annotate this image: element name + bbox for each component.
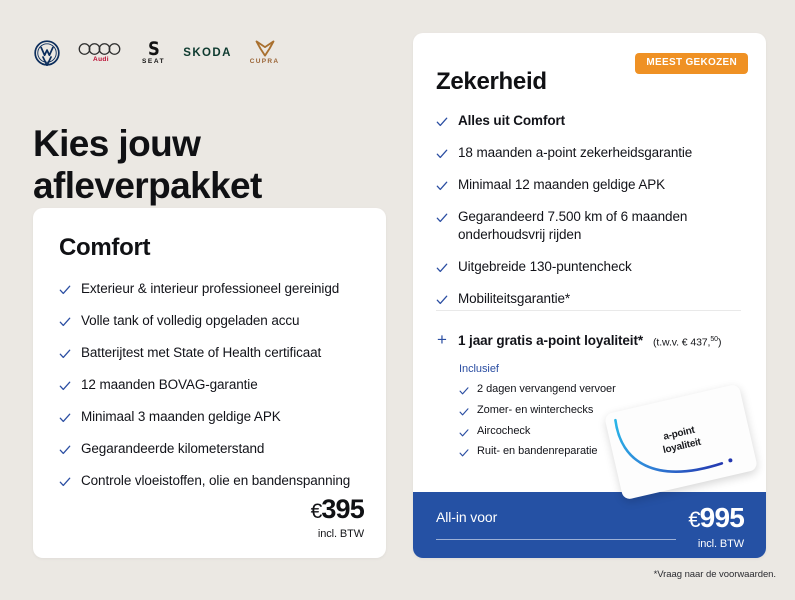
list-item: Aircocheck (459, 425, 709, 439)
list-item: Controle vloeistoffen, olie en bandenspa… (59, 472, 354, 490)
feature-text: 18 maanden a-point zekerheidsgarantie (458, 144, 692, 162)
currency-symbol: € (311, 500, 322, 523)
loyalty-addon-row: + 1 jaar gratis a-point loyaliteit* (t.w… (436, 331, 751, 348)
feature-text: Mobiliteitsgarantie* (458, 290, 570, 308)
skoda-wordmark: SKODA (183, 47, 232, 59)
loyalty-addon-label: 1 jaar gratis a-point loyaliteit* (458, 333, 643, 348)
cupra-logo-icon: CUPRA (250, 40, 280, 66)
plus-icon: + (436, 331, 448, 348)
list-item: Gegarandeerde kilometerstand (59, 440, 354, 458)
price-value: 395 (321, 494, 364, 524)
inclusief-item-text: 2 dagen vervangend vervoer (477, 383, 616, 397)
seat-wordmark: SEAT (142, 59, 165, 66)
list-item: 2 dagen vervangend vervoer (459, 383, 709, 397)
allin-price: €995 incl. BTW (688, 504, 744, 550)
promo-page: Audi S SEAT SKODA CUPRA Kies jouw afleve… (0, 0, 795, 600)
check-icon (436, 180, 448, 192)
check-icon (59, 476, 71, 488)
value-prefix: (t.w.v. € 437, (653, 336, 710, 348)
list-item: Zomer- en winterchecks (459, 404, 709, 418)
feature-text: Controle vloeistoffen, olie en bandenspa… (81, 472, 350, 490)
feature-text: Batterijtest met State of Health certifi… (81, 344, 321, 362)
feature-text: Volle tank of volledig opgeladen accu (81, 312, 299, 330)
zekerheid-title: Zekerheid (436, 68, 547, 96)
seat-mark: S (148, 40, 160, 58)
list-item: Uitgebreide 130-puntencheck (436, 258, 741, 276)
list-item: Gegarandeerd 7.500 km of 6 maanden onder… (436, 208, 741, 244)
list-item: Volle tank of volledig opgeladen accu (59, 312, 354, 330)
comfort-title: Comfort (59, 234, 150, 262)
divider (436, 310, 741, 311)
list-item: Batterijtest met State of Health certifi… (59, 344, 354, 362)
feature-text: 12 maanden BOVAG-garantie (81, 376, 258, 394)
check-icon (59, 444, 71, 456)
status-badge: MEEST GEKOZEN (635, 53, 748, 74)
inclusief-item-text: Ruit- en bandenreparatie (477, 445, 598, 459)
page-title: Kies jouw afleverpakket (33, 123, 363, 207)
zekerheid-feature-list: Alles uit Comfort 18 maanden a-point zek… (436, 112, 741, 308)
feature-text: Alles uit Comfort (458, 112, 565, 130)
currency-symbol: € (688, 507, 699, 532)
feature-text: Exterieur & interieur professioneel gere… (81, 280, 339, 298)
check-icon (59, 284, 71, 296)
comfort-price-note: incl. BTW (311, 528, 364, 540)
list-item: 12 maanden BOVAG-garantie (59, 376, 354, 394)
brand-logo-bar: Audi S SEAT SKODA CUPRA (34, 36, 279, 70)
allin-label: All-in voor (436, 509, 497, 525)
inclusief-item-text: Aircocheck (477, 425, 530, 439)
allin-price-note: incl. BTW (688, 538, 744, 550)
check-icon (59, 412, 71, 424)
feature-text: Uitgebreide 130-puntencheck (458, 258, 632, 276)
check-icon (436, 212, 448, 224)
check-icon (436, 262, 448, 274)
list-item: Alles uit Comfort (436, 112, 741, 130)
list-item: Exterieur & interieur professioneel gere… (59, 280, 354, 298)
list-item: Minimaal 3 maanden geldige APK (59, 408, 354, 426)
comfort-feature-list: Exterieur & interieur professioneel gere… (59, 280, 354, 490)
feature-text: Gegarandeerd 7.500 km of 6 maanden onder… (458, 208, 741, 244)
inclusief-block: Inclusief 2 dagen vervangend vervoer Zom… (459, 363, 709, 466)
check-icon (59, 316, 71, 328)
feature-text: Gegarandeerde kilometerstand (81, 440, 264, 458)
list-item: Ruit- en bandenreparatie (459, 445, 709, 459)
volkswagen-logo-icon (34, 40, 60, 66)
check-icon (459, 407, 469, 417)
check-icon (459, 386, 469, 396)
feature-text: Minimaal 3 maanden geldige APK (81, 408, 281, 426)
package-card-comfort[interactable]: Comfort Exterieur & interieur profession… (33, 208, 386, 558)
loyalty-addon-value: (t.w.v. € 437,50) (653, 336, 721, 349)
package-card-zekerheid[interactable]: MEEST GEKOZEN Zekerheid Alles uit Comfor… (413, 33, 766, 558)
comfort-price: €395 incl. BTW (311, 496, 364, 540)
list-item: 18 maanden a-point zekerheidsgarantie (436, 144, 741, 162)
check-icon (436, 116, 448, 128)
check-icon (436, 294, 448, 306)
seat-logo-icon: S SEAT (142, 40, 165, 66)
feature-text: Minimaal 12 maanden geldige APK (458, 176, 665, 194)
audi-logo-icon: Audi (78, 42, 124, 64)
audi-wordmark: Audi (93, 57, 109, 64)
price-value: 995 (700, 502, 744, 533)
comfort-price-amount: €395 (311, 496, 364, 523)
allin-rule (436, 539, 676, 540)
inclusief-heading: Inclusief (459, 363, 709, 375)
footnote: *Vraag naar de voorwaarden. (654, 569, 776, 580)
check-icon (59, 348, 71, 360)
inclusief-item-text: Zomer- en winterchecks (477, 404, 593, 418)
list-item: Minimaal 12 maanden geldige APK (436, 176, 741, 194)
check-icon (459, 448, 469, 458)
check-icon (59, 380, 71, 392)
check-icon (459, 428, 469, 438)
check-icon (436, 148, 448, 160)
cupra-wordmark: CUPRA (250, 59, 280, 66)
allin-price-amount: €995 (688, 504, 744, 532)
list-item: Mobiliteitsgarantie* (436, 290, 741, 308)
allin-price-bar: All-in voor €995 incl. BTW (413, 492, 766, 558)
value-suffix: ) (718, 336, 721, 348)
skoda-logo-icon: SKODA (183, 47, 232, 59)
value-cents: 50 (710, 336, 718, 343)
